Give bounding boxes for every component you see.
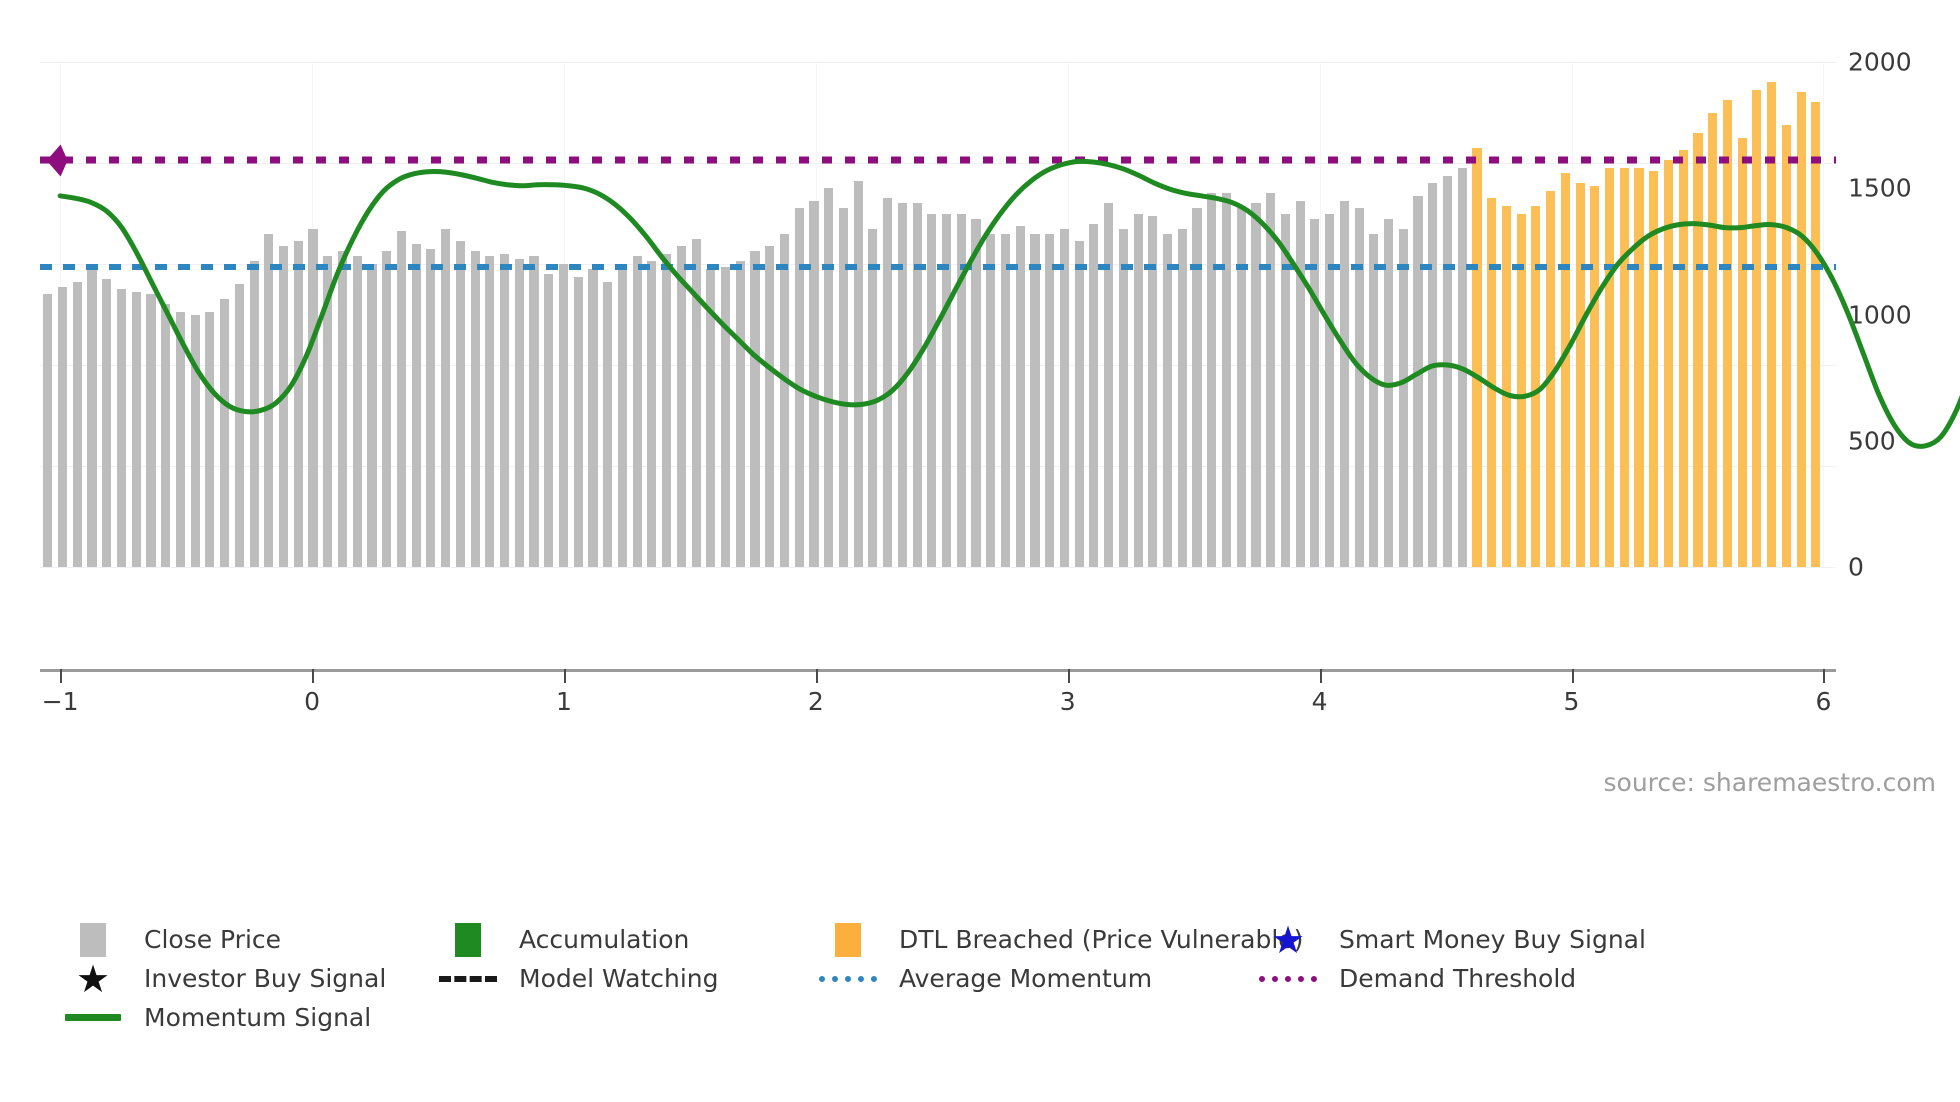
y-axis-right-tick-label: 1000 bbox=[1848, 300, 1912, 329]
x-axis-tick bbox=[816, 669, 818, 683]
legend-key-line bbox=[435, 976, 501, 982]
legend-swatch-demand-threshold bbox=[1259, 976, 1317, 982]
legend-item-model-watching[interactable]: Model Watching bbox=[435, 964, 719, 993]
x-axis-tick-label: −1 bbox=[42, 687, 79, 716]
x-axis-tick-label: 4 bbox=[1312, 687, 1328, 716]
legend-key-star: ★ bbox=[1255, 921, 1321, 959]
legend-row: Close PriceAccumulationDTL Breached (Pri… bbox=[60, 920, 1940, 959]
x-axis-tick-label: 3 bbox=[1060, 687, 1076, 716]
y-axis-right-tick-label: 1500 bbox=[1848, 174, 1912, 203]
chart-legend: Close PriceAccumulationDTL Breached (Pri… bbox=[60, 920, 1940, 1037]
x-axis: −10123456 bbox=[40, 669, 1836, 729]
legend-key-square bbox=[435, 923, 501, 957]
legend-swatch-accumulation bbox=[455, 923, 481, 957]
x-axis-tick bbox=[1823, 669, 1825, 683]
legend-label-investor-buy-signal: Investor Buy Signal bbox=[144, 964, 386, 993]
legend-label-smart-money-buy-signal: Smart Money Buy Signal bbox=[1339, 925, 1646, 954]
legend-item-investor-buy-signal[interactable]: ★Investor Buy Signal bbox=[60, 960, 386, 998]
star-icon: ★ bbox=[76, 960, 110, 998]
legend-swatch-average-momentum bbox=[819, 976, 877, 982]
legend-item-momentum-signal[interactable]: Momentum Signal bbox=[60, 1003, 371, 1032]
legend-label-momentum-signal: Momentum Signal bbox=[144, 1003, 371, 1032]
x-axis-tick bbox=[564, 669, 566, 683]
y-axis-right-tick-label: 2000 bbox=[1848, 48, 1912, 77]
legend-label-average-momentum: Average Momentum bbox=[899, 964, 1152, 993]
legend-swatch-dtl-breached bbox=[835, 923, 861, 957]
x-axis-tick bbox=[1572, 669, 1574, 683]
legend-key-line bbox=[1255, 976, 1321, 982]
legend-item-smart-money-buy-signal[interactable]: ★Smart Money Buy Signal bbox=[1255, 921, 1646, 959]
x-axis-tick bbox=[1320, 669, 1322, 683]
x-axis-line bbox=[40, 669, 1836, 672]
x-axis-tick-label: 1 bbox=[556, 687, 572, 716]
plot-area bbox=[40, 62, 1836, 567]
gridline bbox=[40, 567, 1836, 568]
legend-item-close-price[interactable]: Close Price bbox=[60, 923, 281, 957]
y-axis-left: 00.20.40.60.81 bbox=[0, 0, 32, 1102]
legend-swatch-model-watching bbox=[439, 976, 497, 982]
demand-threshold-start-marker bbox=[47, 144, 68, 176]
y-axis-right-tick-label: 0 bbox=[1848, 553, 1864, 582]
star-icon: ★ bbox=[1271, 921, 1305, 959]
legend-label-dtl-breached: DTL Breached (Price Vulnerable) bbox=[899, 925, 1303, 954]
x-axis-tick-label: 5 bbox=[1564, 687, 1580, 716]
legend-label-model-watching: Model Watching bbox=[519, 964, 719, 993]
x-axis-tick bbox=[60, 669, 62, 683]
source-note: source: sharemaestro.com bbox=[1604, 768, 1937, 797]
x-axis-tick-label: 6 bbox=[1815, 687, 1831, 716]
legend-key-line bbox=[815, 976, 881, 982]
legend-row: Momentum Signal bbox=[60, 998, 1940, 1037]
x-axis-tick bbox=[1068, 669, 1070, 683]
legend-label-accumulation: Accumulation bbox=[519, 925, 689, 954]
legend-swatch-momentum-signal bbox=[65, 1014, 121, 1021]
legend-item-dtl-breached[interactable]: DTL Breached (Price Vulnerable) bbox=[815, 923, 1303, 957]
legend-key-line bbox=[60, 1014, 126, 1021]
legend-key-star: ★ bbox=[60, 960, 126, 998]
legend-item-accumulation[interactable]: Accumulation bbox=[435, 923, 689, 957]
legend-label-demand-threshold: Demand Threshold bbox=[1339, 964, 1576, 993]
momentum-signal-line bbox=[60, 154, 1960, 447]
legend-key-square bbox=[815, 923, 881, 957]
chart-root: 00.20.40.60.81 0500100015002000 −1012345… bbox=[0, 0, 1960, 1102]
legend-swatch-close-price bbox=[80, 923, 106, 957]
legend-key-square bbox=[60, 923, 126, 957]
legend-row: ★Investor Buy SignalModel WatchingAverag… bbox=[60, 959, 1940, 998]
legend-label-close-price: Close Price bbox=[144, 925, 281, 954]
line-overlay bbox=[40, 62, 1836, 567]
y-axis-right-tick-label: 500 bbox=[1848, 426, 1896, 455]
legend-item-average-momentum[interactable]: Average Momentum bbox=[815, 964, 1152, 993]
x-axis-tick-label: 2 bbox=[808, 687, 824, 716]
x-axis-tick-label: 0 bbox=[304, 687, 320, 716]
x-axis-tick bbox=[312, 669, 314, 683]
legend-item-demand-threshold[interactable]: Demand Threshold bbox=[1255, 964, 1576, 993]
